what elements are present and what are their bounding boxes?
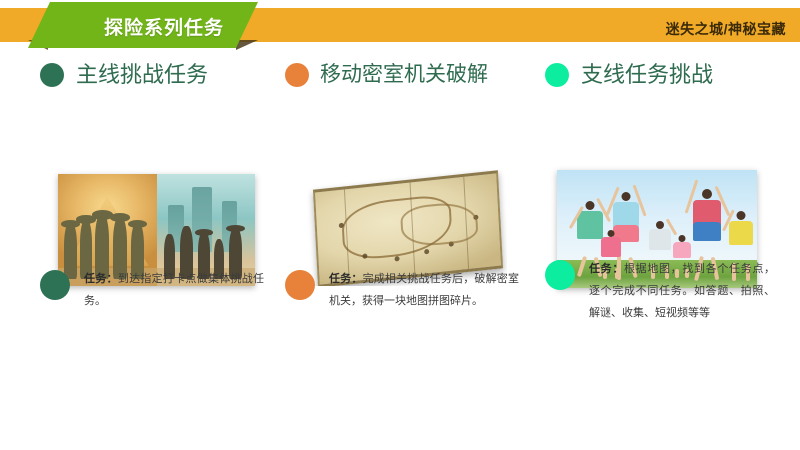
content-columns: 主线挑战任务 [0,52,800,412]
task-description: 任务：到达指定打卡点做集体挑战任务。 [84,268,264,312]
task-description: 任务：根据地图，找到各个任务点，逐个完成不同任务。如答题、拍照、解谜、收集、短视… [589,258,775,324]
task-label: 任务： [589,263,624,275]
bullet-dot-icon [40,270,70,300]
brand-logo: 迷失之城/神秘宝藏 [666,21,786,37]
column-heading-row: 移动密室机关破解 [285,52,540,98]
task-block: 任务：根据地图，找到各个任务点，逐个完成不同任务。如答题、拍照、解谜、收集、短视… [545,258,793,324]
column-escape-room: 移动密室机关破解 任务：完成相关挑战任务后，破解密室机关，获得一块地图拼图碎片。 [285,52,540,214]
task-label: 任务： [329,273,363,285]
column-heading-row: 主线挑战任务 [40,52,285,98]
column-heading: 支线任务挑战 [581,62,713,88]
task-label: 任务： [84,273,118,285]
bullet-dot-icon [285,63,309,87]
bullet-dot-icon [545,260,575,290]
column-heading: 主线挑战任务 [76,62,208,88]
jumping-person [577,203,603,264]
bullet-dot-icon [285,270,315,300]
header-tab-shadow-right [236,40,258,50]
bullet-dot-icon [40,63,64,87]
column-heading: 移动密室机关破解 [320,62,488,88]
page-title: 探险系列任务 [104,19,224,39]
page-header: 探险系列任务 迷失之城/神秘宝藏 [0,8,800,42]
column-side-quest: 支线任务挑战 [545,52,790,216]
task-block: 任务：到达指定打卡点做集体挑战任务。 [40,268,285,312]
column-main-quest: 主线挑战任务 [40,52,285,210]
jumping-person [693,191,721,264]
bullet-dot-icon [545,63,569,87]
task-block: 任务：完成相关挑战任务后，破解密室机关，获得一块地图拼图碎片。 [285,268,540,312]
column-heading-row: 支线任务挑战 [545,52,790,98]
task-description: 任务：完成相关挑战任务后，破解密室机关，获得一块地图拼图碎片。 [329,268,519,312]
